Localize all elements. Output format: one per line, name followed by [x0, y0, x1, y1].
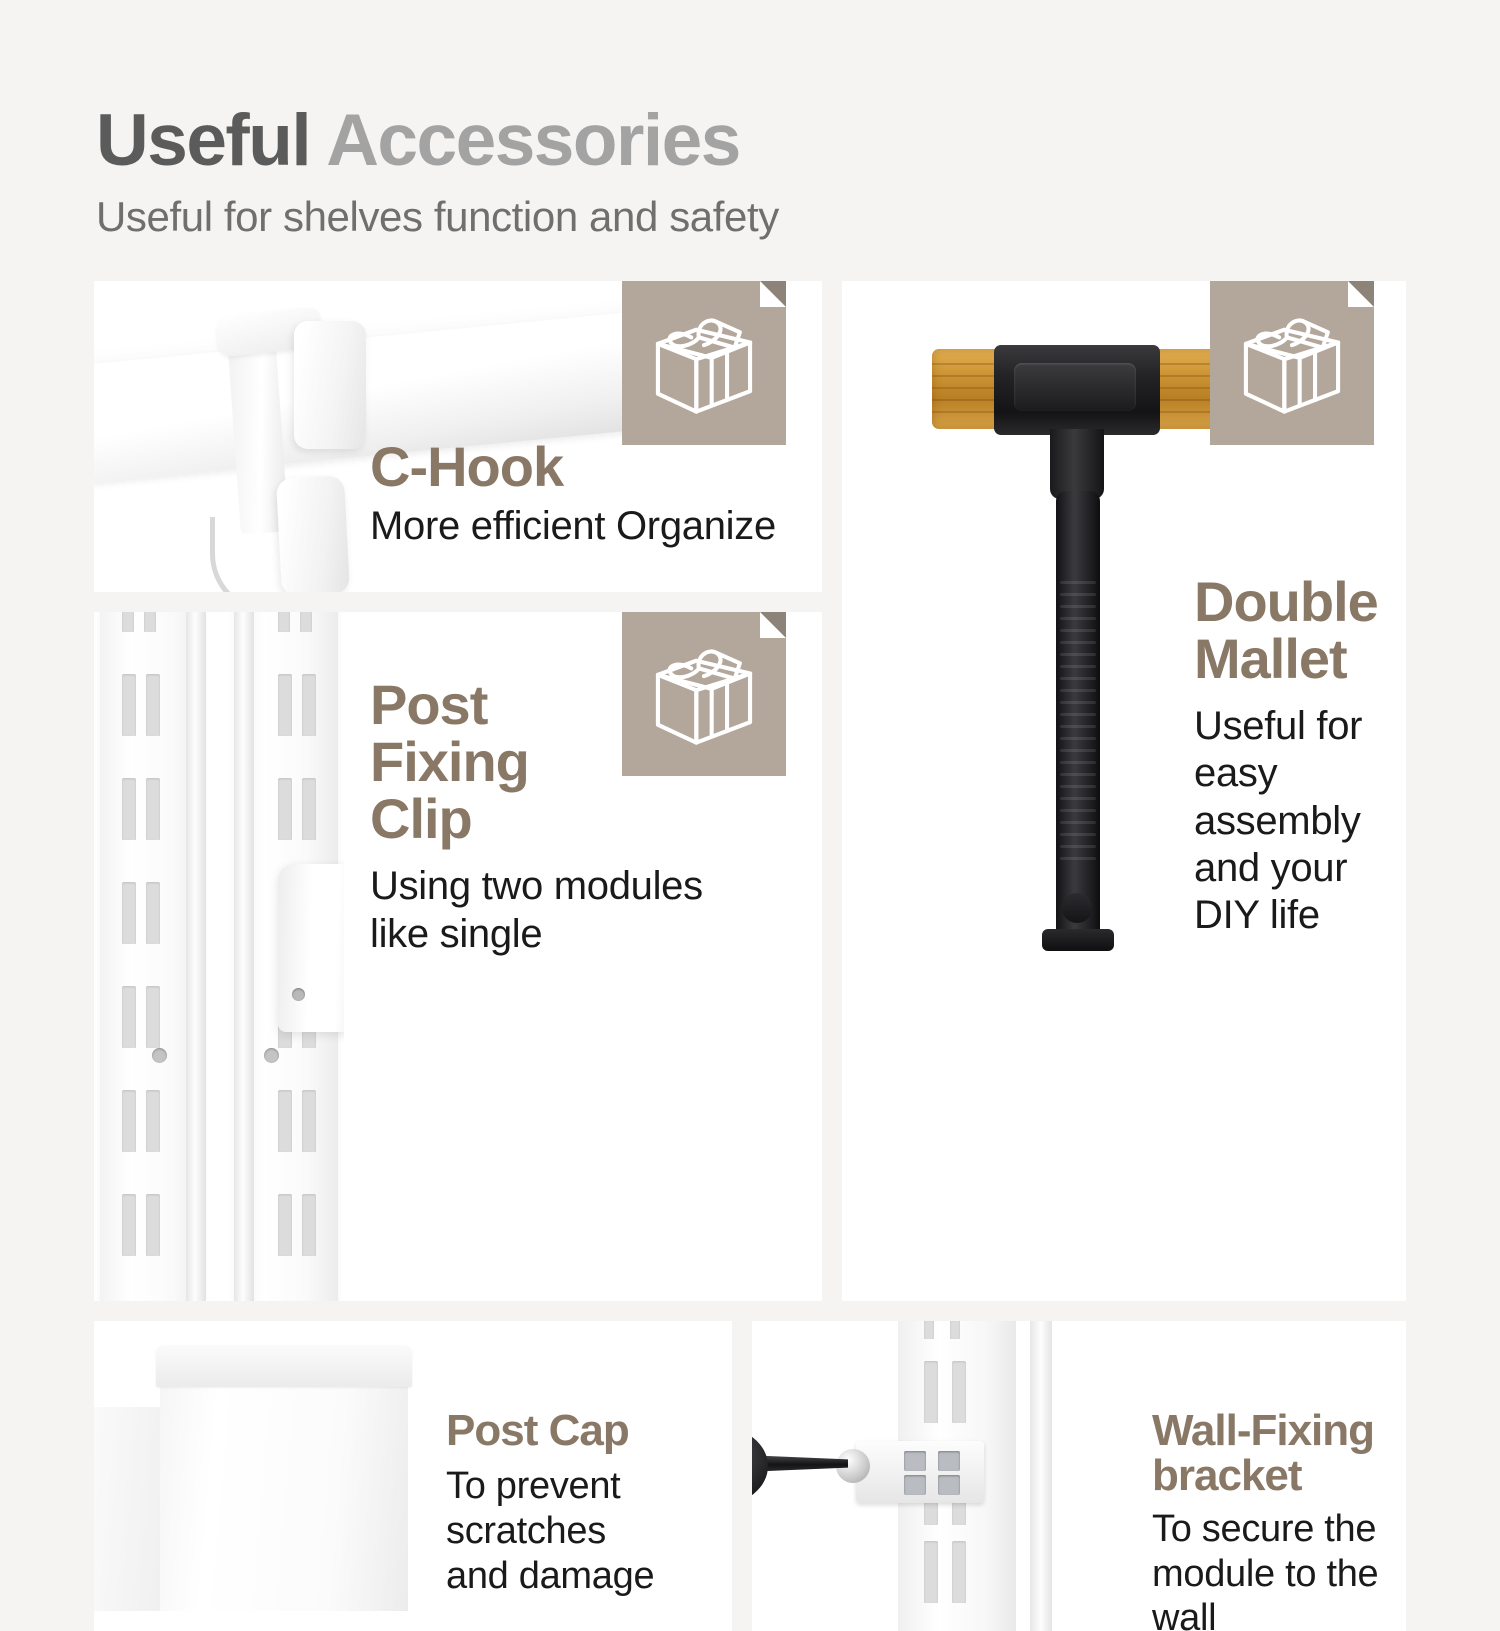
card-double-mallet: Double Mallet Useful for easy assembly a…	[842, 281, 1406, 1301]
heading-line: Wall-Fixing	[1152, 1409, 1406, 1454]
post-slot	[122, 674, 136, 736]
post-slot	[122, 986, 136, 1048]
post-left	[100, 612, 204, 1301]
mallet-center-body	[994, 345, 1160, 435]
page-header: Useful Accessories Useful for shelves fu…	[96, 104, 1416, 241]
post-slot	[278, 674, 292, 736]
card-post-cap: Post Cap To prevent scratches and damage	[94, 1321, 732, 1631]
screwdriver-handle	[752, 1427, 768, 1505]
clip-hole	[292, 988, 305, 1001]
post-slot	[300, 612, 312, 632]
c-hook-text-block: C-Hook More efficient Organize	[370, 438, 776, 550]
post-fixing-clip-part	[278, 864, 344, 1032]
post-left-rail	[186, 612, 206, 1301]
post-slot	[278, 778, 292, 840]
post-cap-part	[156, 1345, 412, 1387]
post-rail	[1030, 1321, 1052, 1631]
card-post-fixing-clip: Post Fixing Clip Using two modules like …	[94, 612, 822, 1301]
gift-badge-c-hook	[622, 281, 786, 445]
post-hole	[152, 1048, 167, 1063]
post-slot	[146, 674, 160, 736]
post-slot	[924, 1361, 938, 1423]
bracket-slot	[938, 1475, 960, 1495]
adjacent-post	[94, 1407, 160, 1611]
mallet-neck	[1050, 429, 1104, 499]
post-slot	[146, 778, 160, 840]
card-wall-fixing-bracket: Wall-Fixing bracket To secure the module…	[752, 1321, 1406, 1631]
page-title-soft: Accessories	[326, 100, 740, 181]
heading-line: Mallet	[1194, 630, 1406, 687]
post-slot	[122, 882, 136, 944]
accessory-grid: C-Hook More efficient Organize	[94, 281, 1406, 1431]
wall-fixing-bracket-text-block: Wall-Fixing bracket To secure the module…	[1152, 1409, 1406, 1631]
post-slot	[952, 1501, 966, 1525]
gift-box-icon	[640, 630, 768, 758]
gift-box-icon	[1228, 299, 1356, 427]
bracket-slot	[904, 1451, 926, 1471]
post-slot	[122, 1194, 136, 1256]
body-line: scratches	[446, 1509, 654, 1554]
mallet-grip	[1060, 581, 1096, 881]
post-slot	[924, 1501, 938, 1525]
post-slot	[122, 778, 136, 840]
post-slot	[302, 674, 316, 736]
post-slot	[146, 986, 160, 1048]
post-slot	[302, 1090, 316, 1152]
post-slot	[924, 1321, 934, 1339]
post-slot	[146, 1090, 160, 1152]
wall-fixing-bracket-heading: Wall-Fixing bracket	[1152, 1409, 1406, 1499]
gift-badge-double-mallet	[1210, 281, 1374, 445]
mallet-plate	[1014, 363, 1136, 411]
post-slot	[952, 1541, 966, 1603]
mallet-hang-hole	[1062, 893, 1092, 923]
post-cap-heading: Post Cap	[446, 1409, 654, 1454]
post-slot	[146, 1194, 160, 1256]
card-c-hook: C-Hook More efficient Organize	[94, 281, 822, 592]
post-slot	[122, 1090, 136, 1152]
page-title-strong: Useful	[96, 100, 310, 181]
page-title: Useful Accessories	[96, 104, 1416, 177]
body-line: and your	[1194, 845, 1406, 892]
post-right-rail	[234, 612, 254, 1301]
body-line: like single	[370, 911, 703, 958]
c-hook-body: More efficient Organize	[370, 503, 776, 550]
body-line: Using two modules	[370, 863, 703, 910]
post-slot	[278, 1090, 292, 1152]
post-slot	[950, 1321, 960, 1339]
double-mallet-body: Useful for easy assembly and your DIY li…	[1194, 703, 1406, 939]
screwdriver	[752, 1433, 848, 1495]
post-slot	[952, 1361, 966, 1423]
double-mallet-heading: Double Mallet	[1194, 573, 1406, 687]
body-line: To prevent	[446, 1464, 654, 1509]
body-line: and damage	[446, 1554, 654, 1599]
c-hook-heading: C-Hook	[370, 438, 776, 495]
gift-badge-post-fixing-clip	[622, 612, 786, 776]
hook-upper-body	[294, 321, 366, 449]
gift-box-icon	[640, 299, 768, 427]
heading-line: Double	[1194, 573, 1406, 630]
double-mallet-photo	[932, 345, 1222, 985]
post-cap-body: To prevent scratches and damage	[446, 1464, 654, 1598]
post-hole	[264, 1048, 279, 1063]
body-line: module to the wall	[1152, 1552, 1406, 1631]
wall-fixing-bracket-part	[856, 1441, 984, 1503]
post-slot	[144, 612, 156, 632]
body-line: easy assembly	[1194, 750, 1406, 844]
infographic-page: Useful Accessories Useful for shelves fu…	[0, 0, 1500, 1500]
heading-line: Clip	[370, 790, 703, 847]
post-slot	[146, 882, 160, 944]
post-slot	[302, 778, 316, 840]
body-line: Useful for	[1194, 703, 1406, 750]
post-shaft	[160, 1385, 408, 1611]
hook-wire	[210, 517, 307, 592]
body-line: DIY life	[1194, 892, 1406, 939]
mallet-end-cap	[1042, 929, 1114, 951]
double-mallet-text-block: Double Mallet Useful for easy assembly a…	[1194, 573, 1406, 939]
heading-line: bracket	[1152, 1454, 1406, 1499]
post-slot	[924, 1541, 938, 1603]
post-slot	[278, 1194, 292, 1256]
post-fixing-clip-photo	[94, 612, 344, 1301]
post-fixing-clip-body: Using two modules like single	[370, 863, 703, 957]
bracket-slot	[938, 1451, 960, 1471]
post-cap-photo	[94, 1321, 434, 1631]
wall-fixing-bracket-photo	[752, 1321, 1082, 1631]
body-line: To secure the	[1152, 1507, 1406, 1552]
post-cap-text-block: Post Cap To prevent scratches and damage	[446, 1409, 654, 1598]
page-subtitle: Useful for shelves function and safety	[96, 193, 1416, 241]
post-slot	[122, 612, 134, 632]
post-slot	[302, 1194, 316, 1256]
mallet-head	[932, 345, 1222, 433]
wall-fixing-bracket-body: To secure the module to the wall	[1152, 1507, 1406, 1631]
post-slot	[278, 612, 290, 632]
bracket-slot	[904, 1475, 926, 1495]
